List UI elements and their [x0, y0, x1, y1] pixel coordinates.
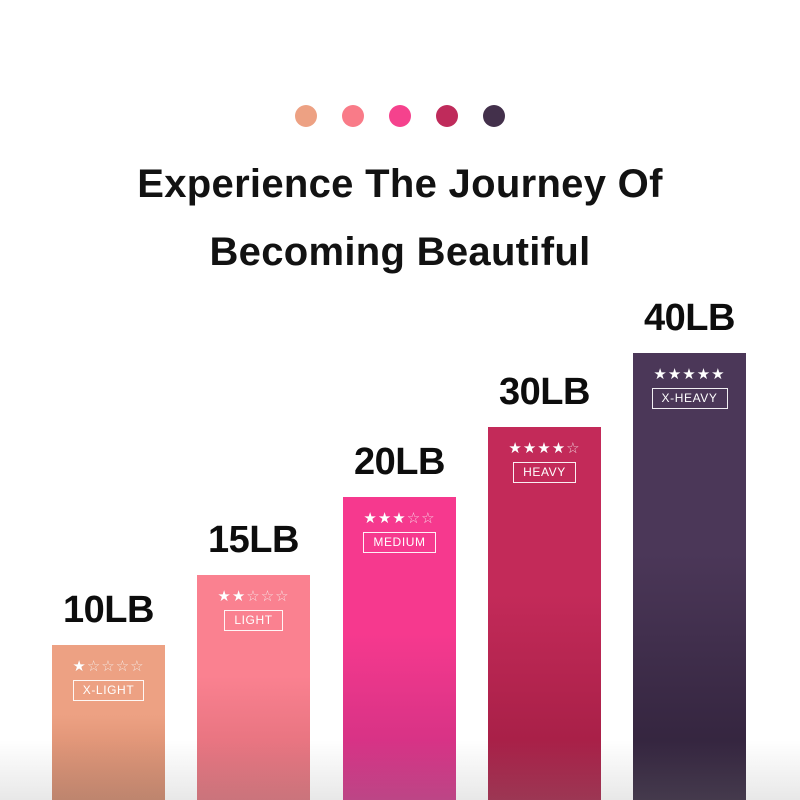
star-empty-icon: ☆: [566, 440, 580, 457]
star-filled-icon: ★: [508, 440, 522, 457]
star-empty-icon: ☆: [275, 588, 289, 605]
bar-40lb-column[interactable]: ★★★★★X-HEAVY: [633, 353, 746, 800]
bar-15lb-column[interactable]: ★★☆☆☆LIGHT: [197, 575, 310, 800]
bar-15lb[interactable]: 15LB★★☆☆☆LIGHT: [197, 519, 310, 800]
star-empty-icon: ☆: [87, 658, 101, 675]
star-empty-icon: ☆: [261, 588, 275, 605]
bar-30lb-column[interactable]: ★★★★☆HEAVY: [488, 427, 601, 800]
star-empty-icon: ☆: [116, 658, 130, 675]
bar-20lb-star-rating: ★★★☆☆: [363, 511, 435, 527]
bar-10lb-star-rating: ★☆☆☆☆: [72, 659, 144, 675]
bar-20lb-level-label: MEDIUM: [363, 532, 435, 553]
bar-30lb-level-label: HEAVY: [513, 462, 576, 483]
star-filled-icon: ★: [363, 510, 377, 527]
star-empty-icon: ☆: [407, 510, 421, 527]
star-filled-icon: ★: [523, 440, 537, 457]
star-filled-icon: ★: [552, 440, 566, 457]
bar-40lb-star-rating: ★★★★★: [653, 367, 725, 383]
star-filled-icon: ★: [392, 510, 406, 527]
star-filled-icon: ★: [537, 440, 551, 457]
bar-20lb[interactable]: 20LB★★★☆☆MEDIUM: [343, 441, 456, 800]
bar-30lb[interactable]: 30LB★★★★☆HEAVY: [488, 371, 601, 800]
promo-chart-canvas: Experience The Journey Of Becoming Beaut…: [0, 0, 800, 800]
star-filled-icon: ★: [232, 588, 246, 605]
star-filled-icon: ★: [217, 588, 231, 605]
star-filled-icon: ★: [72, 658, 86, 675]
bar-10lb-weight-label: 10LB: [52, 589, 165, 632]
bar-40lb[interactable]: 40LB★★★★★X-HEAVY: [633, 297, 746, 800]
bar-15lb-badge: ★★☆☆☆LIGHT: [197, 589, 310, 631]
star-filled-icon: ★: [378, 510, 392, 527]
bar-20lb-column[interactable]: ★★★☆☆MEDIUM: [343, 497, 456, 800]
star-filled-icon: ★: [711, 366, 725, 383]
star-filled-icon: ★: [682, 366, 696, 383]
bar-20lb-weight-label: 20LB: [343, 441, 456, 484]
star-empty-icon: ☆: [246, 588, 260, 605]
star-filled-icon: ★: [697, 366, 711, 383]
bar-30lb-star-rating: ★★★★☆: [508, 441, 580, 457]
bar-40lb-level-label: X-HEAVY: [652, 388, 728, 409]
bar-15lb-star-rating: ★★☆☆☆: [217, 589, 289, 605]
bar-10lb-level-label: X-LIGHT: [73, 680, 145, 701]
bar-30lb-weight-label: 30LB: [488, 371, 601, 414]
bar-10lb-badge: ★☆☆☆☆X-LIGHT: [52, 659, 165, 701]
resistance-band-bar-chart: 10LB★☆☆☆☆X-LIGHT15LB★★☆☆☆LIGHT20LB★★★☆☆M…: [0, 0, 800, 800]
star-empty-icon: ☆: [101, 658, 115, 675]
star-filled-icon: ★: [668, 366, 682, 383]
bar-20lb-badge: ★★★☆☆MEDIUM: [343, 511, 456, 553]
bar-40lb-badge: ★★★★★X-HEAVY: [633, 367, 746, 409]
star-filled-icon: ★: [653, 366, 667, 383]
bar-15lb-weight-label: 15LB: [197, 519, 310, 562]
bar-15lb-level-label: LIGHT: [224, 610, 282, 631]
bar-40lb-weight-label: 40LB: [633, 297, 746, 340]
star-empty-icon: ☆: [130, 658, 144, 675]
bar-10lb-column[interactable]: ★☆☆☆☆X-LIGHT: [52, 645, 165, 800]
star-empty-icon: ☆: [421, 510, 435, 527]
bar-30lb-badge: ★★★★☆HEAVY: [488, 441, 601, 483]
bar-10lb[interactable]: 10LB★☆☆☆☆X-LIGHT: [52, 589, 165, 800]
